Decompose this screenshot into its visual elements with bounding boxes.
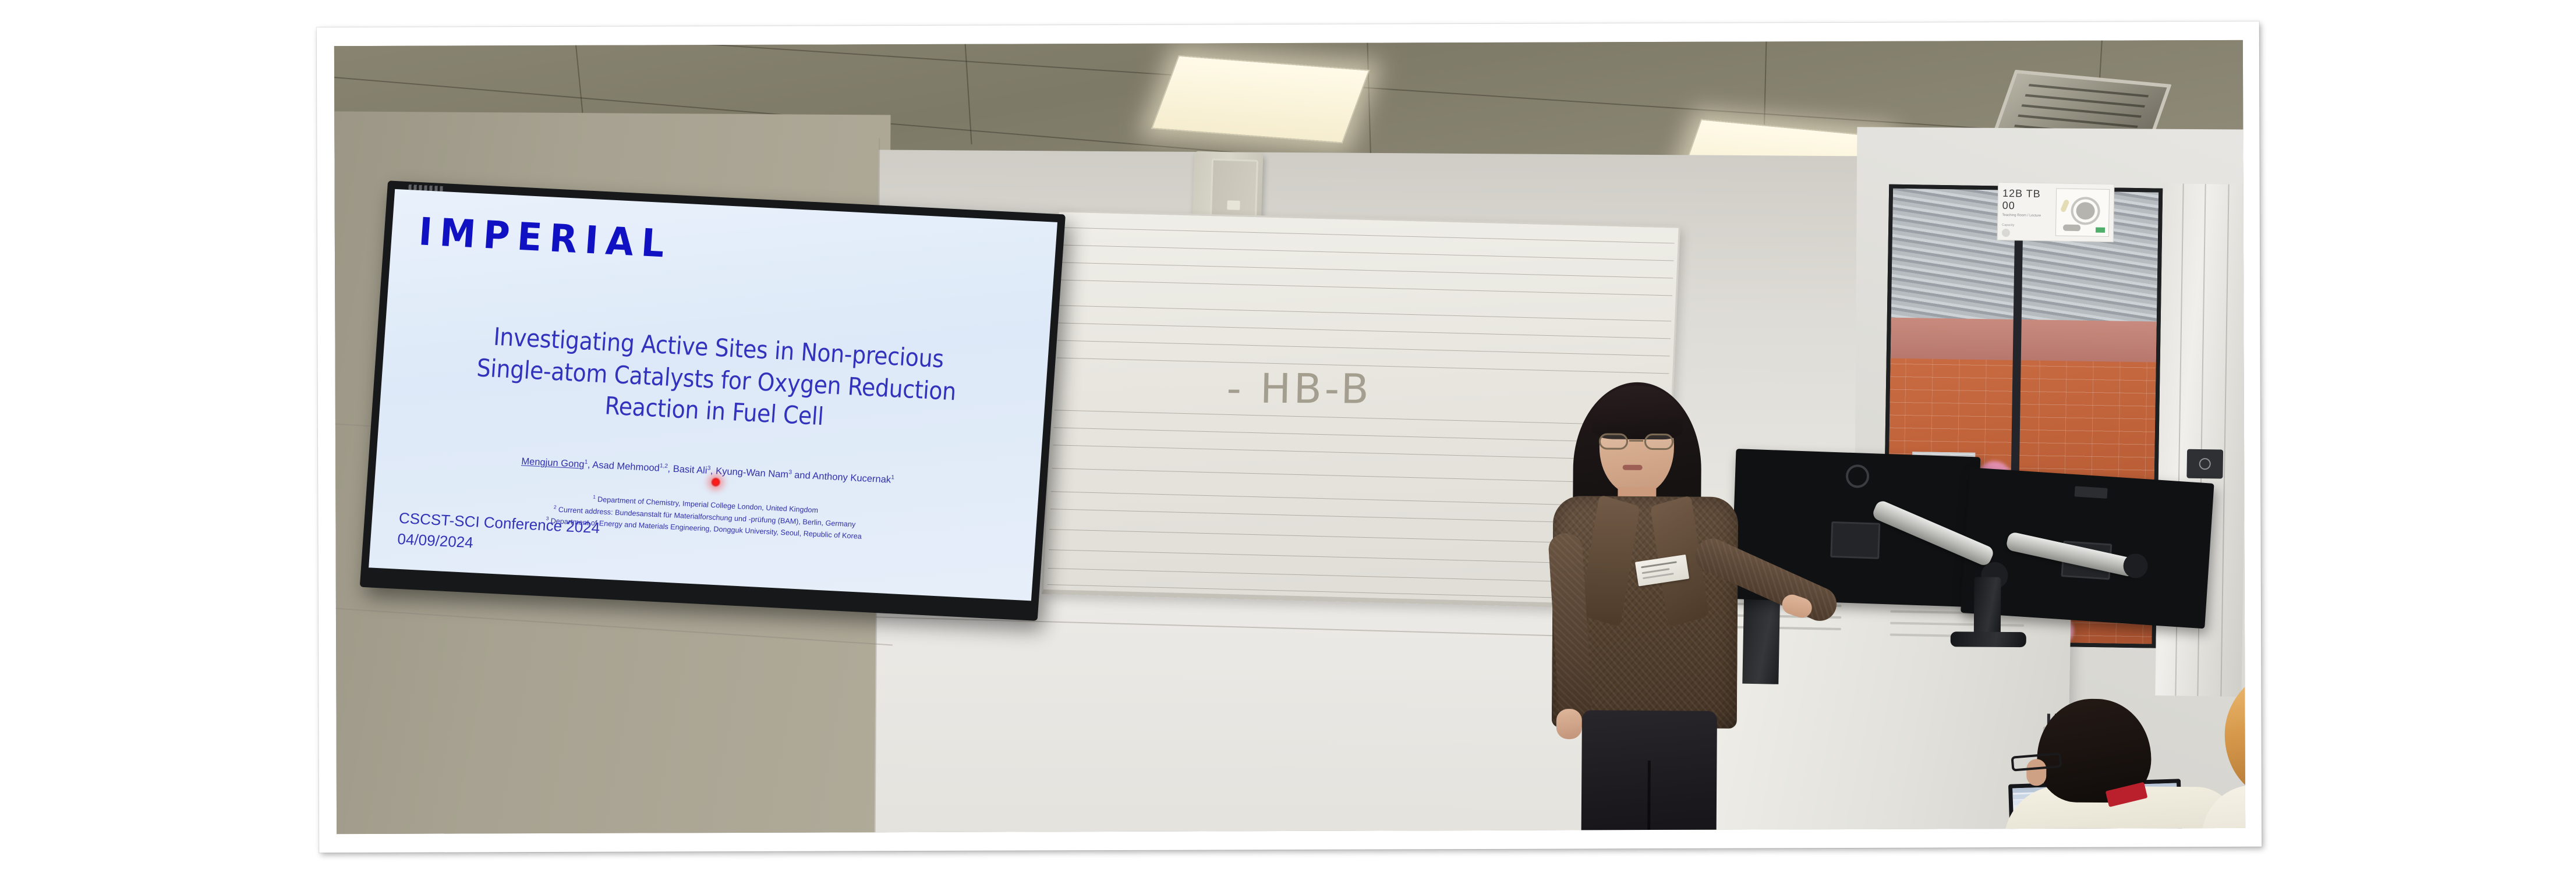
presenter-fringe — [1592, 385, 1683, 439]
floorplan-table-icon — [2076, 202, 2095, 220]
presenter-hair — [1572, 382, 1702, 633]
window-view-fascia — [1882, 317, 2163, 367]
slide-authors: Mengjun Gong1, Asad Mehmood1,2, Basit Al… — [404, 450, 1011, 492]
vesa-mount — [1830, 521, 1880, 559]
audience-2-jacket — [2202, 784, 2245, 834]
imperial-logo: IMPERIAL — [417, 209, 674, 267]
wall-trim-2 — [334, 606, 893, 645]
whiteboard-handwriting: - HB-B — [1226, 364, 1372, 413]
audience-member-2 — [2202, 665, 2245, 834]
av-control-panel[interactable] — [2186, 449, 2223, 479]
presentation-slide: IMPERIAL Investigating Active Sites in N… — [369, 189, 1057, 601]
vesa-mount — [2061, 541, 2112, 580]
control-knob-icon[interactable] — [2199, 458, 2211, 470]
room-sign-capacity-label: Capacity — [2002, 223, 2055, 228]
dell-logo-icon — [1845, 464, 1869, 488]
author-2-sup: 1,2 — [660, 463, 668, 470]
presenter-left-hand — [1556, 709, 1582, 739]
photograph: - HB-B IMPERIAL Investigating Active Sit… — [334, 40, 2245, 834]
author-5-sup: 1 — [891, 474, 894, 481]
slide-title: Investigating Active Sites in Non-precio… — [415, 317, 1018, 442]
floorplan-bench-icon — [2063, 225, 2080, 232]
presenter-left-arm — [1548, 532, 1593, 719]
presenter-blazer — [1552, 496, 1739, 729]
presenter-mouth — [1623, 465, 1643, 470]
floorplan-pill-icon — [2060, 199, 2070, 213]
presenter-shirt — [1601, 505, 1681, 680]
name-badge — [1635, 555, 1689, 587]
elo-logo-icon — [2075, 486, 2108, 499]
room-sign-floorplan — [2055, 188, 2110, 237]
room-sign-code: 12B TB 00 — [2002, 187, 2057, 213]
floorplan-exit-icon — [2096, 228, 2105, 233]
speaker-badge-icon — [1227, 200, 1240, 210]
presenter-neck — [1618, 487, 1656, 520]
audience-1-head — [2037, 698, 2152, 803]
presenter-name: Mengjun Gong — [521, 456, 585, 470]
audience-1-lanyard — [2106, 782, 2148, 807]
lecture-room-scene: - HB-B IMPERIAL Investigating Active Sit… — [334, 40, 2245, 834]
presenter — [1520, 372, 1797, 835]
monitor-right[interactable] — [1961, 467, 2214, 629]
air-vent — [1991, 70, 2172, 152]
audience-1-ear — [2026, 759, 2046, 786]
presenter-trousers — [1581, 710, 1717, 834]
audience-2-hair — [2224, 665, 2245, 800]
glasses-icon — [1598, 433, 1674, 450]
affiliation-2-marker: 2 — [554, 504, 557, 510]
author-2: , Asad Mehmood — [587, 459, 660, 473]
photo-frame: - HB-B IMPERIAL Investigating Active Sit… — [317, 22, 2262, 853]
author-4: , Kyung-Wan Nam — [710, 466, 788, 480]
room-sign: 12B TB 00 Teaching Room / Lecture Capaci… — [1997, 182, 2115, 242]
ceiling-light-panel-1 — [1151, 55, 1370, 144]
presenter-face — [1599, 398, 1674, 495]
ceiling-light-panel-2 — [1676, 119, 1886, 207]
wall-mounted-tv[interactable]: IMPERIAL Investigating Active Sites in N… — [360, 180, 1066, 621]
glasses-icon — [2011, 752, 2062, 772]
author-5: and Anthony Kucernak — [791, 470, 891, 485]
assistive-listening-sign: 12B TB 00 ASSISTIVE LISTENING — [1991, 831, 2078, 834]
author-3: , Basit Ali — [667, 463, 707, 475]
laser-pointer-dot — [710, 477, 721, 488]
affiliation-1-marker: 1 — [593, 493, 596, 499]
room-sign-capacity-icon — [2002, 229, 2010, 237]
room-sign-subtitle: Teaching Room / Lecture — [2002, 214, 2055, 218]
